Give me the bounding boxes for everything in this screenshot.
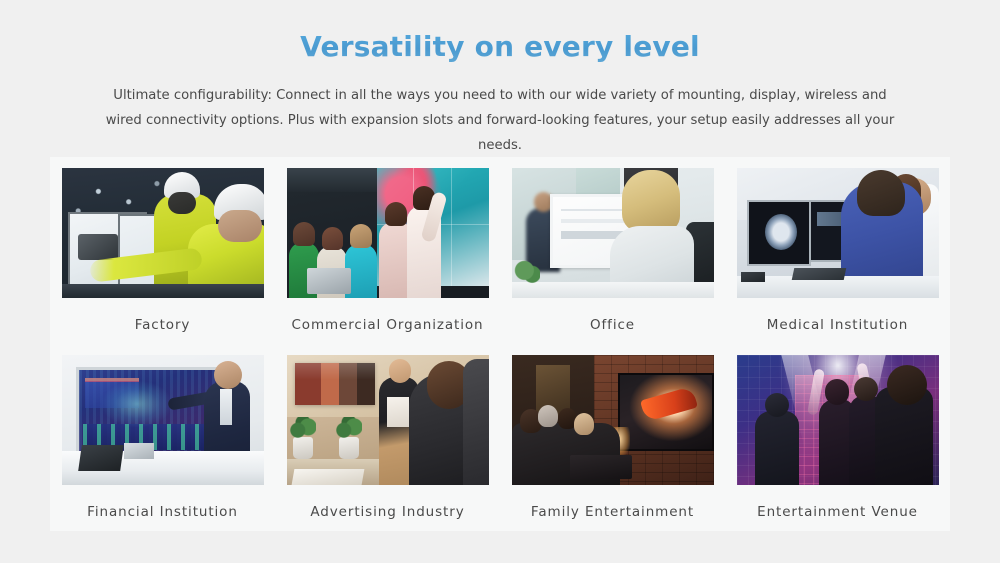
- card-label: Family Entertainment: [531, 504, 694, 520]
- card-label: Advertising Industry: [310, 504, 464, 520]
- use-case-grid: Factory Commercial Organization: [50, 157, 950, 531]
- commercial-organization-photo: [287, 168, 489, 298]
- office-photo: [512, 168, 714, 298]
- card-label: Office: [590, 317, 635, 333]
- versatility-section: Versatility on every level Ultimate conf…: [0, 0, 1000, 563]
- card-label: Factory: [135, 317, 191, 333]
- entertainment-venue-photo: [737, 355, 939, 485]
- use-case-card-financial-institution[interactable]: Financial Institution: [50, 344, 275, 531]
- card-label: Financial Institution: [87, 504, 238, 520]
- factory-photo: [62, 168, 264, 298]
- use-case-card-advertising-industry[interactable]: Advertising Industry: [275, 344, 500, 531]
- advertising-industry-photo: [287, 355, 489, 485]
- section-description: Ultimate configurability: Connect in all…: [100, 83, 900, 158]
- use-case-card-commercial-organization[interactable]: Commercial Organization: [275, 157, 500, 344]
- use-case-card-entertainment-venue[interactable]: Entertainment Venue: [725, 344, 950, 531]
- use-case-card-family-entertainment[interactable]: Family Entertainment: [500, 344, 725, 531]
- page-title: Versatility on every level: [0, 30, 1000, 64]
- use-case-card-factory[interactable]: Factory: [50, 157, 275, 344]
- medical-institution-photo: [737, 168, 939, 298]
- family-entertainment-photo: [512, 355, 714, 485]
- use-case-card-medical-institution[interactable]: Medical Institution: [725, 157, 950, 344]
- card-label: Commercial Organization: [291, 317, 483, 333]
- card-label: Medical Institution: [767, 317, 908, 333]
- section-header: Versatility on every level Ultimate conf…: [0, 0, 1000, 158]
- use-case-card-office[interactable]: Office: [500, 157, 725, 344]
- card-label: Entertainment Venue: [757, 504, 918, 520]
- financial-institution-photo: [62, 355, 264, 485]
